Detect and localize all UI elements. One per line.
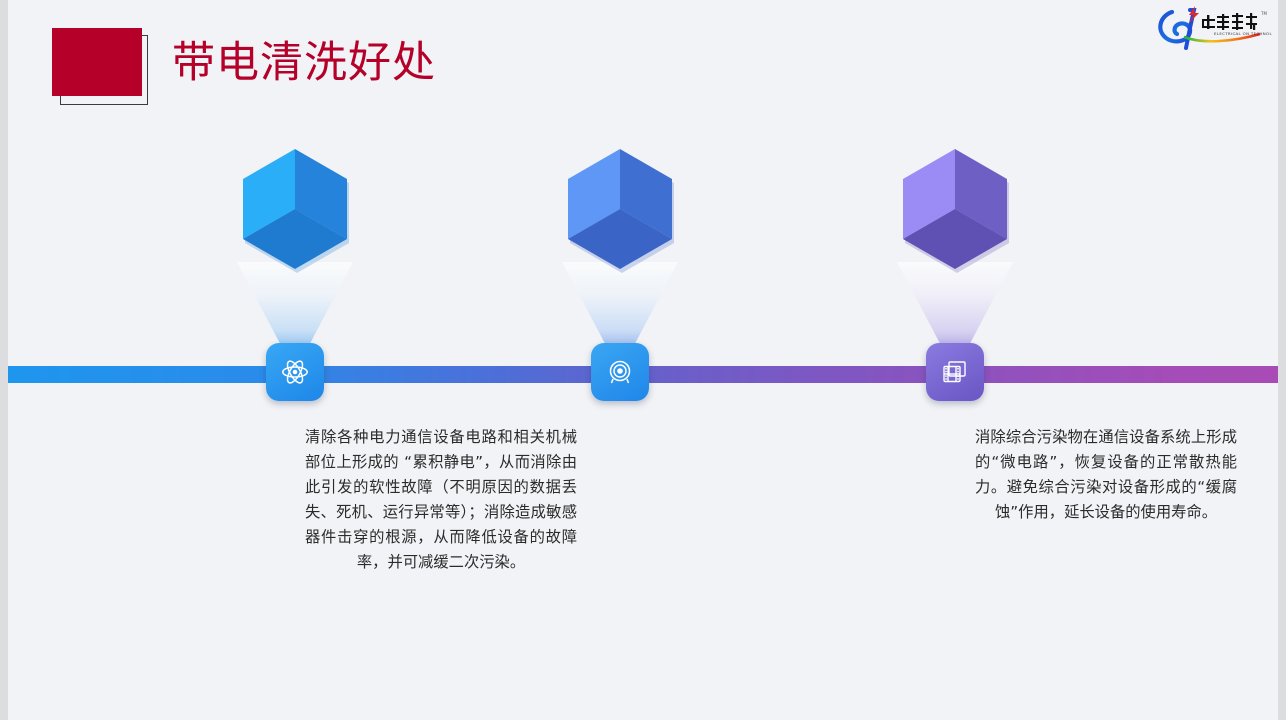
slide-canvas: 带电清洗好处 <box>0 0 1286 720</box>
target-gong-icon-tile-2[interactable] <box>591 343 649 401</box>
cube-icon-1 <box>235 145 355 281</box>
benefit-column-2: 消除综合污染物在通信设备系统上形成的“微电路”，恢复设备的正常散热能力。避免综合… <box>455 0 785 720</box>
target-gong-icon <box>605 357 635 387</box>
company-logo: ELECTRICAL ON TECHNOLOGY TM <box>1154 4 1272 52</box>
cube-icon-2 <box>560 145 680 281</box>
benefit-text-1: 清除各种电力通信设备电路和相关机械部位上形成的 “累积静电”，从而消除由此引发的… <box>305 425 577 575</box>
benefit-column-3: 提高设备的电气绝缘值，恢复电路板及元器件的正常表面阻抗，形成特殊保护作用。使设备… <box>790 0 1120 720</box>
svg-text:ELECTRICAL ON TECHNOLOGY: ELECTRICAL ON TECHNOLOGY <box>1214 31 1272 36</box>
right-edge-gutter <box>1278 0 1286 720</box>
benefit-text-2: 消除综合污染物在通信设备系统上形成的“微电路”，恢复设备的正常散热能力。避免综合… <box>975 425 1237 525</box>
svg-text:TM: TM <box>1260 11 1267 16</box>
benefit-column-1: 清除各种电力通信设备电路和相关机械部位上形成的 “累积静电”，从而消除由此引发的… <box>130 0 460 720</box>
cube-icon-3 <box>895 145 1015 281</box>
left-edge-gutter <box>0 0 8 720</box>
film-strip-icon-tile-3[interactable] <box>926 343 984 401</box>
atom-icon <box>280 357 310 387</box>
film-strip-icon <box>940 357 970 387</box>
atom-icon-tile-1[interactable] <box>266 343 324 401</box>
title-decor-solid-square <box>52 28 142 96</box>
